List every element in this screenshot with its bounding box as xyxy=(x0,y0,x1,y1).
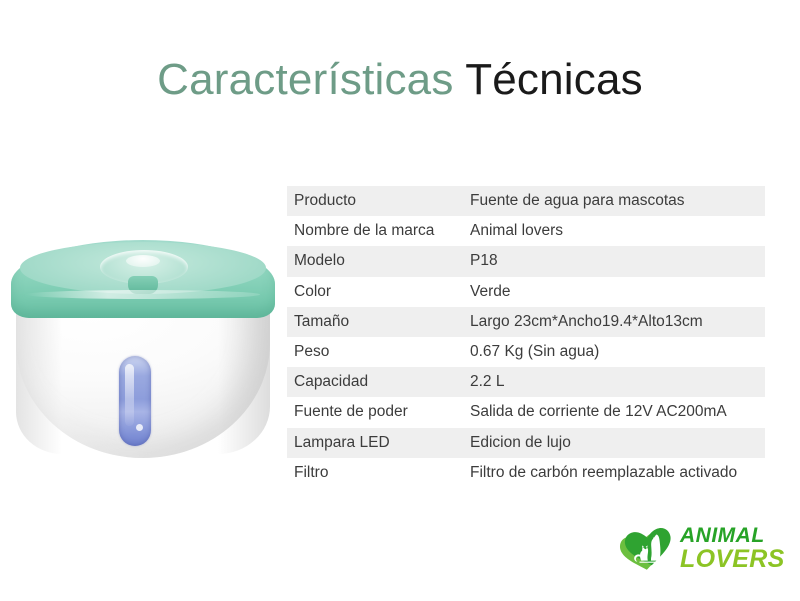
water-level-window-highlight xyxy=(125,364,134,426)
spec-value: Edicion de lujo xyxy=(470,434,765,452)
brand-logo: ANIMAL LOVERS xyxy=(618,521,790,577)
spec-value: Largo 23cm*Ancho19.4*Alto13cm xyxy=(470,313,765,331)
spec-value: 2.2 L xyxy=(470,373,765,391)
spec-value: Verde xyxy=(470,283,765,301)
spec-value: Filtro de carbón reemplazable activado xyxy=(470,464,765,482)
spec-value: Salida de corriente de 12V AC200mA xyxy=(470,403,765,421)
heart-pets-icon xyxy=(618,523,680,575)
spec-value: Animal lovers xyxy=(470,222,765,240)
spec-value: Fuente de agua para mascotas xyxy=(470,192,765,210)
table-row: Modelo P18 xyxy=(287,246,765,276)
brand-logo-line1: ANIMAL xyxy=(680,525,790,546)
table-row: Peso 0.67 Kg (Sin agua) xyxy=(287,337,765,367)
table-row: Fuente de poder Salida de corriente de 1… xyxy=(287,397,765,427)
spec-label: Producto xyxy=(287,192,470,210)
spec-value: 0.67 Kg (Sin agua) xyxy=(470,343,765,361)
page-title: Características Técnicas xyxy=(0,55,800,105)
product-image xyxy=(8,228,278,470)
fountain-lid-center-cap xyxy=(126,255,160,267)
table-row: Filtro Filtro de carbón reemplazable act… xyxy=(287,458,765,488)
fountain-rim-highlight xyxy=(26,290,260,299)
page-title-dark: Técnicas xyxy=(465,55,643,104)
table-row: Producto Fuente de agua para mascotas xyxy=(287,186,765,216)
spec-label: Lampara LED xyxy=(287,434,470,452)
pet-water-fountain-illustration xyxy=(8,228,278,470)
spec-value: P18 xyxy=(470,252,765,270)
spec-label: Nombre de la marca xyxy=(287,222,470,240)
page-title-accent: Características xyxy=(157,55,453,104)
spec-label: Peso xyxy=(287,343,470,361)
table-row: Tamaño Largo 23cm*Ancho19.4*Alto13cm xyxy=(287,307,765,337)
water-level-window xyxy=(119,356,151,446)
spec-label: Capacidad xyxy=(287,373,470,391)
spec-label: Color xyxy=(287,283,470,301)
spec-label: Fuente de poder xyxy=(287,403,470,421)
table-row: Capacidad 2.2 L xyxy=(287,367,765,397)
brand-logo-line2: LOVERS xyxy=(680,547,790,572)
spec-label: Tamaño xyxy=(287,313,470,331)
table-row: Color Verde xyxy=(287,277,765,307)
spec-label: Filtro xyxy=(287,464,470,482)
brand-logo-text: ANIMAL LOVERS xyxy=(680,525,790,572)
table-row: Lampara LED Edicion de lujo xyxy=(287,428,765,458)
water-bubble xyxy=(136,424,143,431)
table-row: Nombre de la marca Animal lovers xyxy=(287,216,765,246)
spec-label: Modelo xyxy=(287,252,470,270)
specifications-table: Producto Fuente de agua para mascotas No… xyxy=(287,186,765,488)
